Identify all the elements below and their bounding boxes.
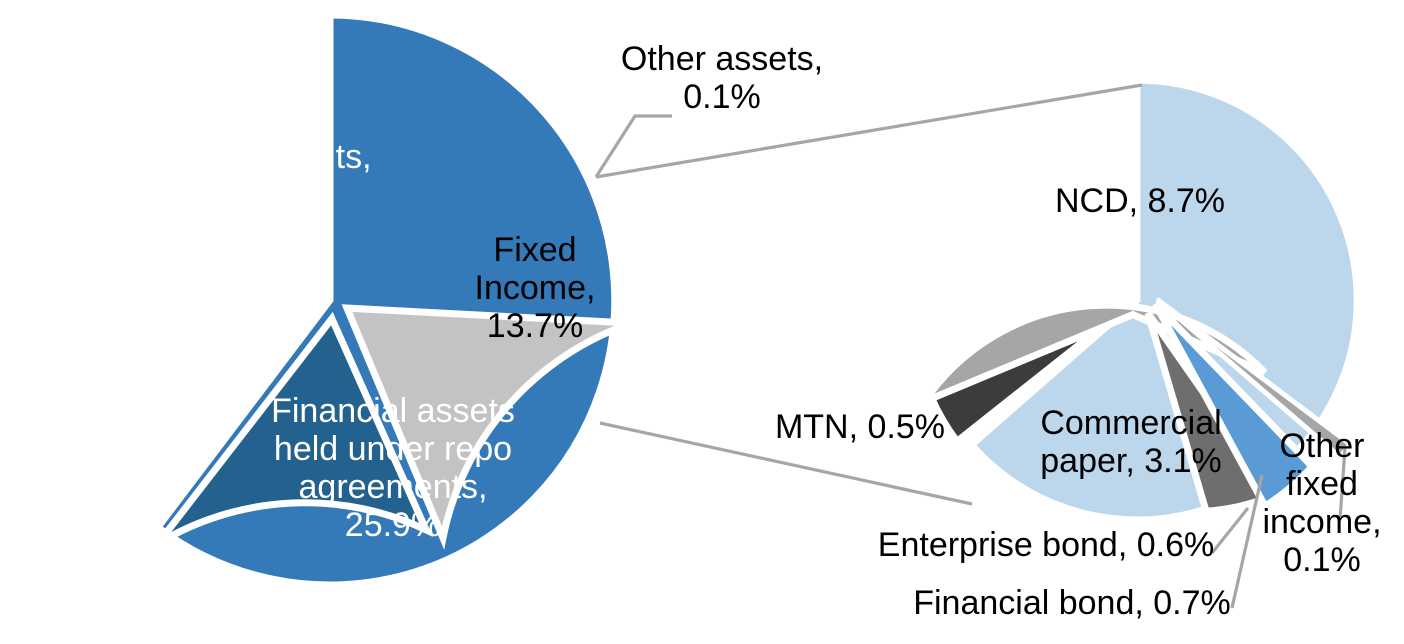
leader-line-other-assets (596, 116, 672, 177)
label-fixed-income: Fixed Income, 13.7% (455, 231, 615, 345)
label-mtn: MTN, 0.5% (760, 408, 960, 446)
label-bank-deposits: Bank deposits, 60.3% (120, 138, 400, 214)
label-repo-assets: Financial assets held under repo agreeme… (253, 392, 533, 544)
label-enterprise-bond: Enterprise bond, 0.6% (866, 526, 1226, 564)
label-ncd: NCD, 8.7% (1030, 182, 1250, 220)
pie-chart-figure: Bank deposits, 60.3% Fixed Income, 13.7%… (0, 0, 1404, 644)
label-other-fixed-income: Other fixed income, 0.1% (1252, 427, 1392, 579)
label-other-assets: Other assets, 0.1% (602, 40, 842, 116)
label-commercial-paper: Commercial paper, 3.1% (1016, 404, 1246, 480)
label-financial-bond: Financial bond, 0.7% (898, 584, 1246, 622)
